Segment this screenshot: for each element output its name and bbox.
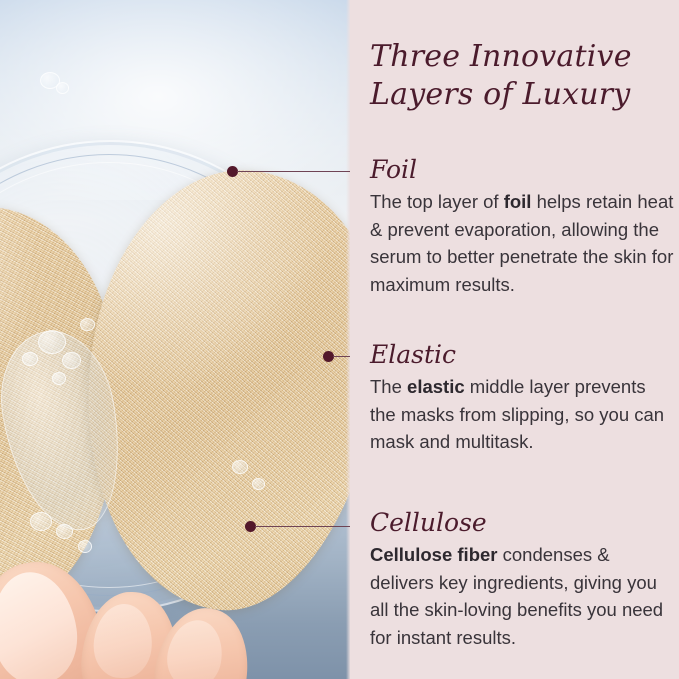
- bubble: [56, 82, 69, 94]
- bubble: [52, 372, 66, 385]
- section-foil: Foil The top layer of foil helps retain …: [370, 155, 675, 298]
- body-lead: The: [370, 376, 407, 397]
- section-heading-cellulose: Cellulose: [370, 508, 675, 538]
- bubble: [232, 460, 248, 474]
- body-lead: The top layer of: [370, 191, 504, 212]
- text-panel: Three Innovative Layers of Luxury Foil T…: [350, 0, 679, 679]
- bubble: [62, 352, 81, 369]
- page-title-line-1: Three Innovative: [370, 38, 670, 76]
- section-body-cellulose: Cellulose fiber condenses & delivers key…: [370, 541, 675, 651]
- bubble: [252, 478, 265, 490]
- page-title-line-2: Layers of Luxury: [370, 76, 670, 114]
- section-cellulose: Cellulose Cellulose fiber condenses & de…: [370, 508, 675, 651]
- hand-holding-tray: [0, 548, 300, 679]
- body-bold-term: foil: [504, 191, 532, 212]
- section-heading-foil: Foil: [370, 155, 675, 185]
- bubble: [22, 352, 38, 366]
- infographic-canvas: Three Innovative Layers of Luxury Foil T…: [0, 0, 679, 679]
- bubble: [30, 512, 52, 531]
- section-body-foil: The top layer of foil helps retain heat …: [370, 188, 675, 298]
- page-title: Three Innovative Layers of Luxury: [370, 38, 670, 114]
- bubble: [80, 318, 95, 331]
- product-photo: [0, 0, 350, 679]
- section-heading-elastic: Elastic: [370, 340, 675, 370]
- section-body-elastic: The elastic middle layer prevents the ma…: [370, 373, 675, 456]
- callout-line-cellulose: [255, 526, 365, 527]
- callout-line-foil: [237, 171, 365, 172]
- section-elastic: Elastic The elastic middle layer prevent…: [370, 340, 675, 456]
- bubble: [56, 524, 73, 539]
- bubble: [38, 330, 66, 354]
- body-bold-term: Cellulose fiber: [370, 544, 497, 565]
- body-bold-term: elastic: [407, 376, 465, 397]
